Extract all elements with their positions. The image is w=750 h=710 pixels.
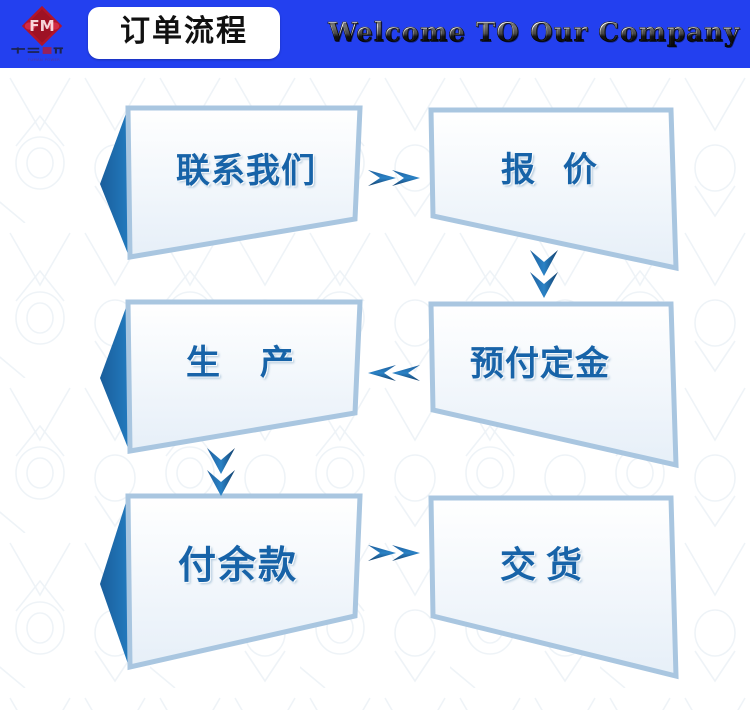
logo-latin-subtitle: FUMAN POWER bbox=[10, 56, 78, 63]
company-logo: FM FUMAN POWER bbox=[4, 2, 82, 66]
order-process-page: FM FUMAN POWER 订单流程 Welcome TO Our Compa… bbox=[0, 0, 750, 710]
flow-step-label: 生 产 bbox=[186, 346, 308, 380]
arrow-balance-to-delivery-icon bbox=[366, 533, 428, 573]
chevron-3d-edge bbox=[100, 108, 128, 254]
flow-step-delivery[interactable]: 交货 bbox=[428, 496, 680, 691]
svg-text:FUMAN POWER: FUMAN POWER bbox=[28, 58, 60, 62]
flow-step-label: 联系我们 bbox=[176, 154, 316, 188]
flow-step-label: 付余款 bbox=[178, 546, 298, 584]
logo-chinese-subtitle bbox=[10, 46, 78, 55]
page-header: FM FUMAN POWER 订单流程 Welcome TO Our Compa… bbox=[0, 0, 750, 68]
chevron-3d-edge bbox=[100, 496, 128, 664]
arrow-production-to-balance-icon bbox=[200, 446, 242, 504]
flow-step-label: 预付定金 bbox=[470, 347, 610, 381]
arrow-quotation-to-deposit-icon bbox=[523, 248, 565, 306]
welcome-banner-text: Welcome TO Our Company bbox=[328, 18, 740, 48]
flow-step-contact-us[interactable]: 联系我们 bbox=[98, 106, 366, 286]
fm-diamond-icon: FM bbox=[21, 5, 63, 47]
page-title-badge: 订单流程 bbox=[88, 7, 280, 59]
arrow-deposit-to-production-icon bbox=[362, 353, 424, 393]
chevron-3d-edge bbox=[100, 302, 128, 448]
order-process-flowchart: 联系我们 报 价 bbox=[0, 68, 750, 710]
flow-step-label: 交货 bbox=[500, 548, 592, 584]
page-title: 订单流程 bbox=[120, 17, 248, 47]
flow-step-advance-deposit[interactable]: 预付定金 bbox=[428, 302, 680, 482]
flow-step-label: 报 价 bbox=[501, 153, 605, 187]
flow-step-pay-balance[interactable]: 付余款 bbox=[98, 494, 366, 694]
svg-text:FM: FM bbox=[29, 17, 54, 35]
arrow-contact-to-quotation-icon bbox=[366, 158, 428, 198]
